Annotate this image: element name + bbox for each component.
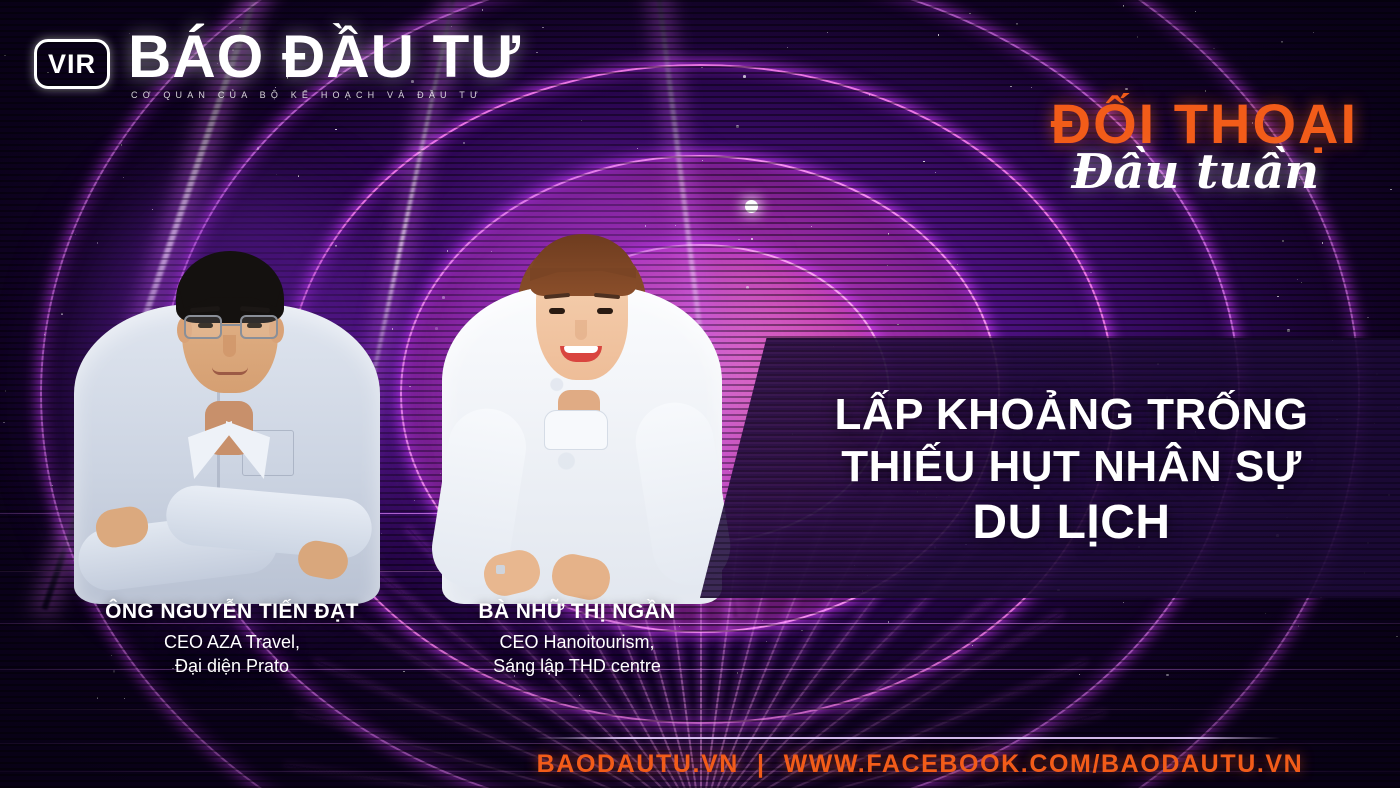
speaker-2-name: BÀ NHỮ THỊ NGẦN (412, 600, 742, 624)
footer-separator: | (757, 750, 766, 779)
eye-right (597, 308, 613, 314)
vir-badge-icon: VIR (34, 39, 110, 89)
speaker-1-role: CEO AZA Travel, Đại diện Prato (72, 630, 392, 678)
vir-badge-label: VIR (48, 51, 96, 78)
program-title: ĐỐI THOẠI Đầu tuần (1051, 96, 1358, 196)
headline-line-3: DU LỊCH (972, 495, 1170, 552)
speaker-1-role-line-1: CEO AZA Travel, (72, 630, 392, 654)
speaker-2-role-line-2: Sáng lập THD centre (412, 654, 742, 678)
speaker-1-nameplate: ÔNG NGUYỄN TIẾN ĐẠT CEO AZA Travel, Đại … (72, 600, 392, 678)
eye-left (549, 308, 565, 314)
brand-tagline: CƠ QUAN CỦA BỘ KẾ HOẠCH VÀ ĐẦU TƯ (131, 90, 521, 100)
footer-website-link[interactable]: BAODAUTU.VN (537, 750, 739, 779)
brand-text: BÁO ĐẦU TƯ CƠ QUAN CỦA BỘ KẾ HOẠCH VÀ ĐẦ… (128, 28, 521, 100)
brand-logo[interactable]: VIR BÁO ĐẦU TƯ CƠ QUAN CỦA BỘ KẾ HOẠCH V… (34, 28, 521, 100)
headline-line-1: LẤP KHOẢNG TRỐNG (834, 389, 1308, 441)
headline-block: LẤP KHOẢNG TRỐNG THIẾU HỤT NHÂN SỰ DU LỊ… (700, 352, 1400, 588)
finger-ring (496, 565, 505, 574)
nose (575, 320, 587, 340)
brand-name: BÁO ĐẦU TƯ (128, 28, 521, 85)
hair-top (530, 234, 636, 296)
headline-line-2: THIẾU HỤT NHÂN SỰ (841, 441, 1302, 493)
glasses-bridge (222, 324, 240, 326)
mandarin-collar (544, 410, 608, 450)
teeth (564, 346, 598, 353)
speaker-2-nameplate: BÀ NHỮ THỊ NGẦN CEO Hanoitourism, Sáng l… (412, 600, 742, 678)
lens-left (184, 315, 222, 339)
program-title-script: Đầu tuần (1051, 148, 1340, 196)
speaker-1-role-line-2: Đại diện Prato (72, 654, 392, 678)
speaker-1-name: ÔNG NGUYỄN TIẾN ĐẠT (72, 600, 392, 624)
speaker-2-photo (432, 134, 732, 604)
speaker-2-role: CEO Hanoitourism, Sáng lập THD centre (412, 630, 742, 678)
speaker-2-role-line-1: CEO Hanoitourism, (412, 630, 742, 654)
nose (223, 335, 236, 357)
mouth (212, 367, 248, 375)
footer-facebook-link[interactable]: WWW.FACEBOOK.COM/BAODAUTU.VN (784, 750, 1304, 779)
promo-banner: LẤP KHOẢNG TRỐNG THIẾU HỤT NHÂN SỰ DU LỊ… (0, 0, 1400, 788)
lens-right (240, 315, 278, 339)
footer-links: BAODAUTU.VN | WWW.FACEBOOK.COM/BAODAUTU.… (500, 744, 1340, 784)
footer-divider (535, 737, 1280, 739)
speaker-1-photo (62, 139, 392, 604)
